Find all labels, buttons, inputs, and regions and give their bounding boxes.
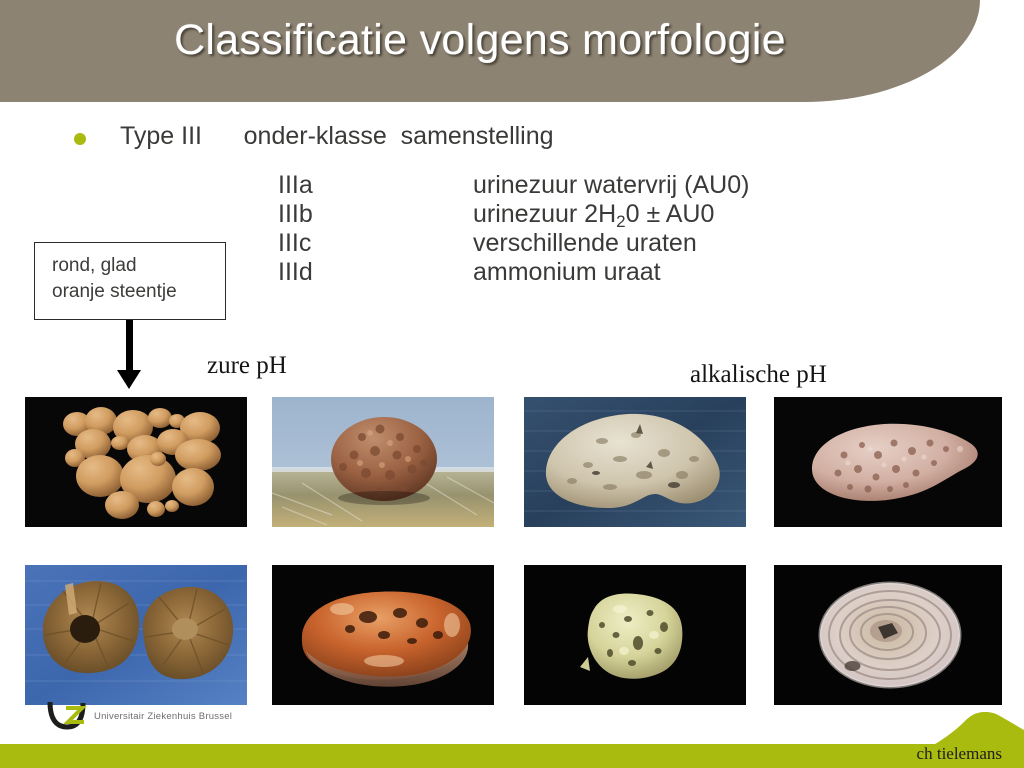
uz-logo-wordmark: Universitair Ziekenhuis Brussel xyxy=(94,711,232,722)
label-alkaline-ph: alkalische pH xyxy=(690,361,827,389)
subclass-code: IIIa xyxy=(278,171,473,200)
callout-line-2: oranje steentje xyxy=(52,281,177,303)
table-row: IIIb urinezuur 2H20 ± AU0 xyxy=(278,200,749,229)
stone-photo-yellow-green-on-black xyxy=(524,565,746,705)
stone-photo-two-cut-stones-on-blue xyxy=(25,565,247,705)
callout-box: rond, glad oranje steentje xyxy=(34,242,226,320)
table-row: IIIc verschillende uraten xyxy=(278,229,749,258)
photo-8-graphic xyxy=(774,565,1002,705)
photo-1-graphic xyxy=(25,397,247,527)
stone-photo-orange-on-black xyxy=(272,565,494,705)
photo-7-graphic xyxy=(524,565,746,705)
subclass-composition: ammonium uraat xyxy=(473,258,661,287)
stone-photo-pink-on-black xyxy=(774,397,1002,527)
callout-line-1: rond, glad xyxy=(52,255,137,277)
stone-photo-concentric-layered-on-black xyxy=(774,565,1002,705)
subclass-code: IIIb xyxy=(278,200,473,229)
subclass-table: IIIa urinezuur watervrij (AU0) IIIb urin… xyxy=(278,171,749,287)
subclass-composition: verschillende uraten xyxy=(473,229,697,258)
bullet-row-label: Type III onder-klasse samenstelling xyxy=(120,122,554,151)
photo-3-graphic xyxy=(524,397,746,527)
table-row: IIIa urinezuur watervrij (AU0) xyxy=(278,171,749,200)
photo-6-graphic xyxy=(272,565,494,705)
stone-photo-pale-cream-on-blue-fabric xyxy=(524,397,746,527)
footer-bar xyxy=(0,744,1024,768)
stone-photo-rough-brown-on-blue xyxy=(272,397,494,527)
composition-prefix: urinezuur 2H xyxy=(473,200,616,228)
bullet-row: Type III onder-klasse samenstelling xyxy=(62,122,862,156)
photo-5-graphic xyxy=(25,565,247,705)
photo-2-graphic xyxy=(272,397,494,527)
down-arrow-icon xyxy=(112,320,146,390)
bullet-dot-icon xyxy=(74,133,86,145)
subclass-code: IIId xyxy=(278,258,473,287)
arrow-head xyxy=(117,370,141,389)
arrow-shaft xyxy=(126,320,133,372)
uz-logo-mark-icon xyxy=(44,700,90,730)
subclass-code: IIIc xyxy=(278,229,473,258)
subclass-composition: urinezuur watervrij (AU0) xyxy=(473,171,749,200)
label-acid-ph: zure pH xyxy=(207,352,287,380)
stone-photo-round-tan-cluster xyxy=(25,397,247,527)
photo-4-graphic xyxy=(774,397,1002,527)
composition-suffix: 0 ± AU0 xyxy=(626,200,715,228)
table-row: IIId ammonium uraat xyxy=(278,258,749,287)
author-credit: ch tielemans xyxy=(917,744,1002,764)
page-title: Classificatie volgens morfologie xyxy=(0,16,960,65)
uz-brussel-logo: Universitair Ziekenhuis Brussel xyxy=(44,700,234,732)
slide-header: Classificatie volgens morfologie xyxy=(0,0,1024,102)
